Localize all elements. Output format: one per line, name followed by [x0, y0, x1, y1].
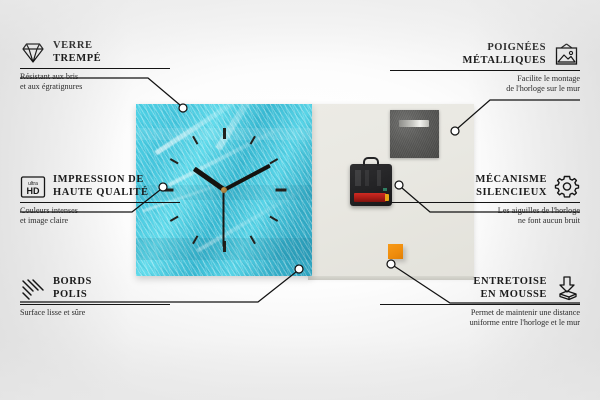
clock-tick	[250, 136, 256, 145]
callout-rule	[20, 202, 180, 203]
clock-pivot	[221, 187, 227, 193]
callout-verre-trempe[interactable]: VERRE TREMPÉ Résistant aux bris et aux é…	[20, 40, 190, 93]
callout-header: ENTRETOISE EN MOUSSE	[380, 276, 580, 301]
callout-bords-polis[interactable]: BORDS POLIS Surface lisse et sûre	[20, 276, 190, 318]
callout-header: ultra HD IMPRESSION DE HAUTE QUALITÉ	[20, 174, 200, 199]
callout-title: IMPRESSION DE HAUTE QUALITÉ	[53, 174, 149, 199]
minute-hand	[223, 164, 271, 192]
callout-entretoise-en-mousse[interactable]: ENTRETOISE EN MOUSSE Permet de maintenir…	[380, 276, 580, 329]
callout-subtitle-line: Facilite le montage	[390, 74, 580, 84]
clock-tick	[170, 158, 179, 164]
callout-subtitle-line: Couleurs intenses	[20, 206, 200, 216]
callout-subtitle-line: et image claire	[20, 216, 200, 226]
callout-rule	[380, 304, 580, 305]
aa-battery	[354, 193, 386, 202]
mechanism-indicator	[383, 188, 387, 191]
callout-rule	[20, 68, 170, 69]
clock-tick	[250, 235, 256, 244]
callout-title: POIGNÉES MÉTALLIQUES	[463, 42, 546, 67]
clock-tick	[223, 128, 226, 139]
ultra-hd-icon: ultra HD	[20, 175, 46, 199]
callout-header: POIGNÉES MÉTALLIQUES	[390, 42, 580, 67]
callout-header: BORDS POLIS	[20, 276, 190, 301]
callout-impression-haute-qualite[interactable]: ultra HD IMPRESSION DE HAUTE QUALITÉ Cou…	[20, 174, 200, 227]
callout-title: ENTRETOISE EN MOUSSE	[473, 276, 547, 301]
clock-tick	[275, 189, 286, 192]
svg-text:HD: HD	[27, 186, 40, 196]
diamond-icon	[20, 42, 46, 64]
callout-subtitle-line: ne font aucun bruit	[390, 216, 580, 226]
metal-hanging-bracket	[390, 110, 439, 158]
callout-rule	[20, 304, 170, 305]
callout-rule	[390, 70, 580, 71]
clock-tick	[192, 136, 198, 145]
picture-frame-icon	[553, 43, 580, 67]
callout-subtitle-line: Surface lisse et sûre	[20, 308, 190, 318]
callout-subtitle-line: Les aiguilles de l'horloge	[390, 206, 580, 216]
mechanism-hanging-loop	[363, 157, 379, 166]
second-hand	[223, 190, 225, 247]
polished-edges-icon	[20, 278, 46, 300]
callout-title: VERRE TREMPÉ	[53, 40, 101, 65]
callout-header: VERRE TREMPÉ	[20, 40, 190, 65]
callout-rule	[390, 202, 580, 203]
clock-tick	[192, 235, 198, 244]
callout-mecanisme-silencieux[interactable]: MÉCANISME SILENCIEUX Les aiguilles de l'…	[390, 174, 580, 227]
clock-tick	[269, 158, 278, 164]
bracket-slot	[399, 120, 429, 127]
foam-spacer-arrow-icon	[554, 276, 580, 301]
callout-subtitle-line: Résistant aux bris	[20, 72, 190, 82]
callout-subtitle-line: Permet de maintenir une distance	[380, 308, 580, 318]
bracket-grain	[390, 110, 439, 158]
clock-tick	[269, 216, 278, 222]
callout-title: BORDS POLIS	[53, 276, 92, 301]
gear-icon	[554, 174, 580, 199]
callout-title: MÉCANISME SILENCIEUX	[476, 174, 547, 199]
callout-subtitle-line: uniforme entre l'horloge et le mur	[380, 318, 580, 328]
callout-poignees-metalliques[interactable]: POIGNÉES MÉTALLIQUES Facilite le montage…	[390, 42, 580, 95]
foam-spacer	[388, 244, 403, 259]
mechanism-detail	[355, 170, 387, 186]
callout-subtitle-line: de l'horloge sur le mur	[390, 84, 580, 94]
callout-header: MÉCANISME SILENCIEUX	[390, 174, 580, 199]
callout-subtitle-line: et aux égratignures	[20, 82, 190, 92]
infographic-canvas: VERRE TREMPÉ Résistant aux bris et aux é…	[0, 0, 600, 400]
clock-mechanism	[350, 164, 392, 206]
